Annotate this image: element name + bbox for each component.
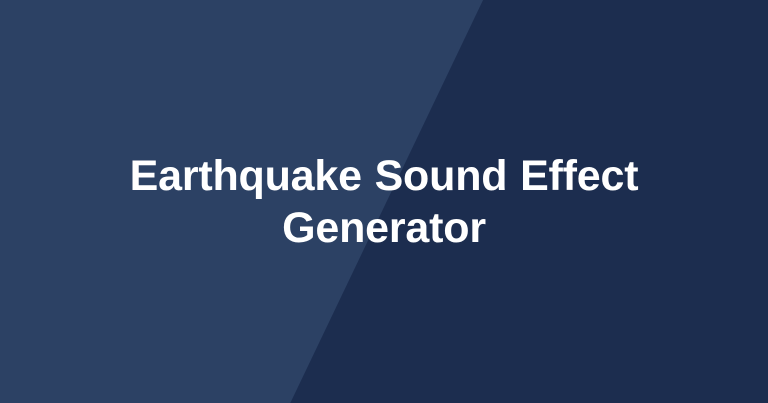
hero-banner: Earthquake Sound Effect Generator <box>0 0 768 403</box>
page-title: Earthquake Sound Effect Generator <box>114 150 654 254</box>
title-container: Earthquake Sound Effect Generator <box>0 0 768 403</box>
